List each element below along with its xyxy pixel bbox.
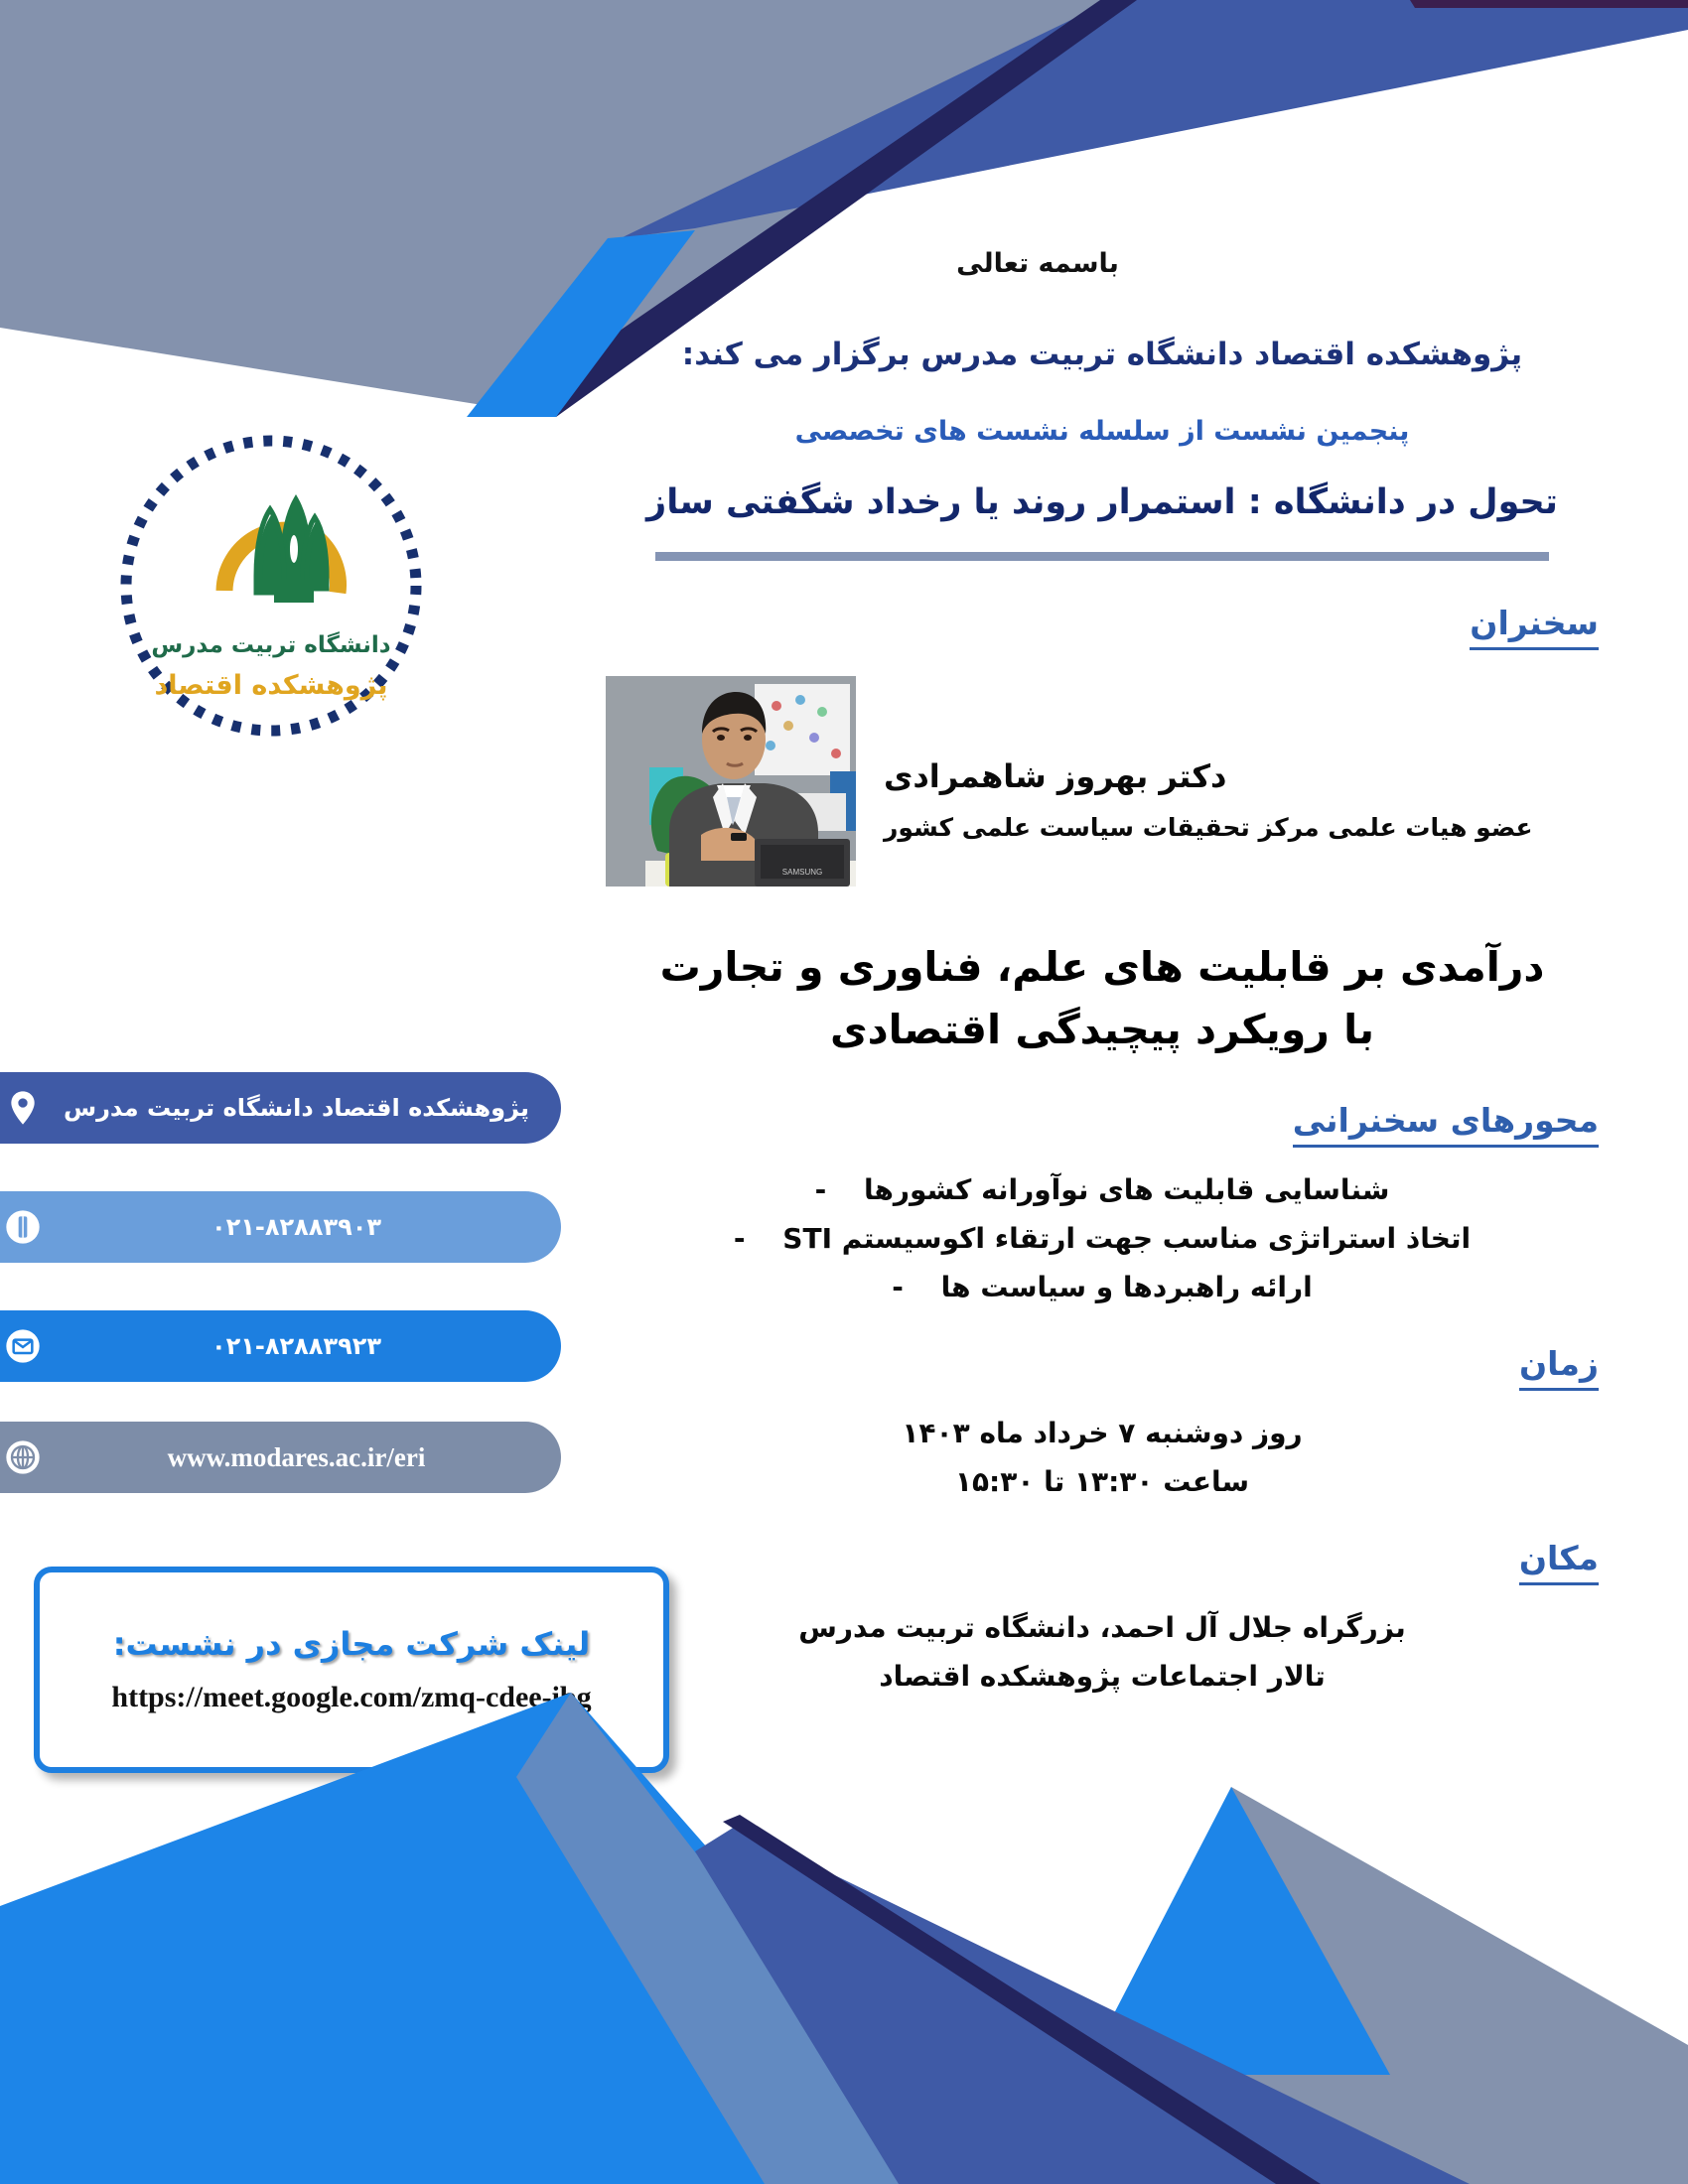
host-line: پژوهشکده اقتصاد دانشگاه تربیت مدرس برگزا… [606, 337, 1599, 372]
speaker-portrait-icon: SAMSUNG [606, 676, 856, 887]
envelope-icon [0, 1323, 46, 1369]
svg-text:SAMSUNG: SAMSUNG [782, 868, 822, 877]
bullet-dash: - [892, 1271, 904, 1303]
speaker-photo: SAMSUNG [606, 676, 856, 887]
logo-tulip-icon [256, 499, 327, 603]
contact-fax-text: ۰۲۱-۸۲۸۸۳۹۲۳ [50, 1332, 543, 1360]
place-heading: مکان [1519, 1540, 1599, 1585]
place-line-2: تالار اجتماعات پژوهشکده اقتصاد [606, 1660, 1599, 1693]
deco-darknavy-bottom [723, 1815, 1321, 2184]
poster-content: باسمه تعالی پژوهشکده اقتصاد دانشگاه تربی… [606, 248, 1599, 1708]
topic-text: اتخاذ استراتژی مناسب جهت ارتقاء اکوسیستم… [782, 1222, 1471, 1255]
deco-darkline-topright [1410, 0, 1688, 8]
deco-royal-bottom [695, 1827, 1470, 2184]
lecture-title: درآمدی بر قابلیت های علم، فناوری و تجارت… [606, 936, 1599, 1062]
bismillah-text: باسمه تعالی [606, 248, 1599, 279]
topics-list: شناسایی قابلیت های نوآورانه کشورها - اتخ… [606, 1173, 1599, 1303]
contact-pill-website[interactable]: www.modares.ac.ir/eri [0, 1422, 561, 1493]
meeting-label: لینک شرکت مجازی در نشست: [113, 1625, 591, 1663]
globe-icon [0, 1434, 46, 1480]
topics-heading-wrap: محورهای سخنرانی [606, 1102, 1599, 1173]
speaker-heading-wrap: سخنران [606, 605, 1599, 676]
list-item: ارائه راهبردها و سیاست ها - [606, 1271, 1599, 1303]
place-line-1: بزرگراه جلال آل احمد، دانشگاه تربیت مدرس [606, 1611, 1599, 1644]
deco-bright-bottom-small [1082, 1787, 1390, 2075]
contact-website-text: www.modares.ac.ir/eri [50, 1442, 543, 1473]
event-poster: دانشگاه تربیت مدرس پژوهشکده اقتصاد باسمه… [0, 0, 1688, 2184]
deco-royal-top [621, 0, 1688, 238]
logo-institute-text: پژوهشکده اقتصاد [154, 670, 387, 701]
bullet-dash: - [815, 1173, 827, 1206]
topics-heading: محورهای سخنرانی [1293, 1102, 1599, 1148]
list-item: اتخاذ استراتژی مناسب جهت ارتقاء اکوسیستم… [606, 1222, 1599, 1255]
session-title: تحول در دانشگاه : استمرار روند یا رخداد … [606, 482, 1599, 522]
contact-pill-phone[interactable]: ۰۲۱-۸۲۸۸۳۹۰۳ [0, 1191, 561, 1263]
topic-text: شناسایی قابلیت های نوآورانه کشورها [864, 1173, 1389, 1206]
topic-text: ارائه راهبردها و سیاست ها [941, 1271, 1313, 1303]
meeting-url[interactable]: https://meet.google.com/zmq-cdee-ibg [111, 1681, 591, 1714]
event-date: روز دوشنبه ۷ خرداد ماه ۱۴۰۳ [606, 1417, 1599, 1449]
place-heading-wrap: مکان [606, 1540, 1599, 1611]
deco-slate-bottom [1082, 1787, 1688, 2184]
contact-address-text: پژوهشکده اقتصاد دانشگاه تربیت مدرس [50, 1094, 543, 1122]
speaker-name: دکتر بهروز شاهمرادی [884, 757, 1599, 795]
contact-phone-text: ۰۲۱-۸۲۸۸۳۹۰۳ [50, 1213, 543, 1241]
series-line: پنجمین نشست از سلسله نشست های تخصصی [606, 416, 1599, 447]
speaker-affiliation: عضو هیات علمی مرکز تحقیقات سیاست علمی کش… [884, 813, 1599, 842]
speaker-row: SAMSUNG دکتر بهروز شاهمرادی عضو هیات علم… [606, 676, 1599, 885]
list-item: شناسایی قابلیت های نوآورانه کشورها - [606, 1173, 1599, 1206]
contact-pill-fax[interactable]: ۰۲۱-۸۲۸۸۳۹۲۳ [0, 1310, 561, 1382]
phone-icon [0, 1204, 46, 1250]
virtual-meeting-box[interactable]: لینک شرکت مجازی در نشست: https://meet.go… [34, 1567, 669, 1773]
time-heading: زمان [1519, 1345, 1599, 1391]
lecture-title-line2: با رویکرد پیچیدگی اقتصادی [606, 999, 1599, 1062]
contact-pill-address[interactable]: پژوهشکده اقتصاد دانشگاه تربیت مدرس [0, 1072, 561, 1144]
section-divider [655, 552, 1549, 561]
location-pin-icon [0, 1085, 46, 1131]
event-hours: ساعت ۱۳:۳۰ تا ۱۵:۳۰ [606, 1465, 1599, 1498]
university-logo: دانشگاه تربیت مدرس پژوهشکده اقتصاد [107, 422, 435, 750]
time-heading-wrap: زمان [606, 1345, 1599, 1417]
logo-university-text: دانشگاه تربیت مدرس [151, 631, 390, 658]
lecture-title-line1: درآمدی بر قابلیت های علم، فناوری و تجارت [660, 943, 1545, 991]
speaker-heading: سخنران [1470, 605, 1599, 650]
bullet-dash: - [734, 1222, 746, 1255]
